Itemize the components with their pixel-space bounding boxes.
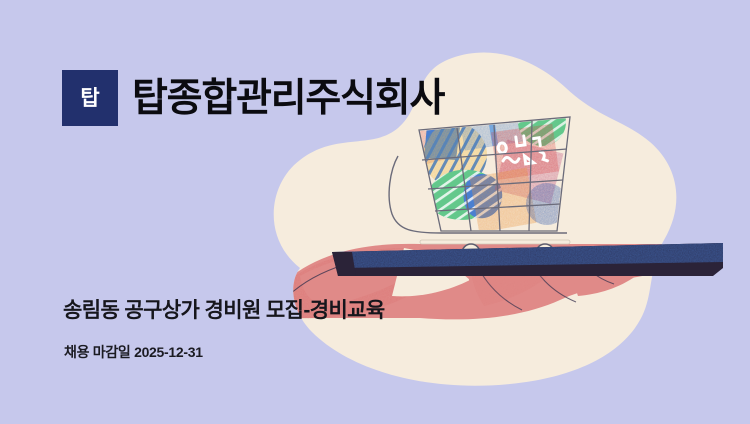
company-logo-badge: 탑: [62, 70, 118, 126]
application-deadline: 채용 마감일 2025-12-31: [64, 342, 203, 362]
cart-bottom-bar: [420, 240, 570, 244]
company-name: 탑종합관리주식회사: [132, 79, 444, 118]
job-posting-poster: 탑 탑종합관리주식회사 송림동 공구상가 경비원 모집-경비교육 채용 마감일 …: [0, 0, 750, 424]
job-headline: 송림동 공구상가 경비원 모집-경비교육: [63, 294, 385, 324]
company-logo-text: 탑: [80, 88, 99, 109]
brand-row: 탑 탑종합관리주식회사: [62, 70, 444, 126]
